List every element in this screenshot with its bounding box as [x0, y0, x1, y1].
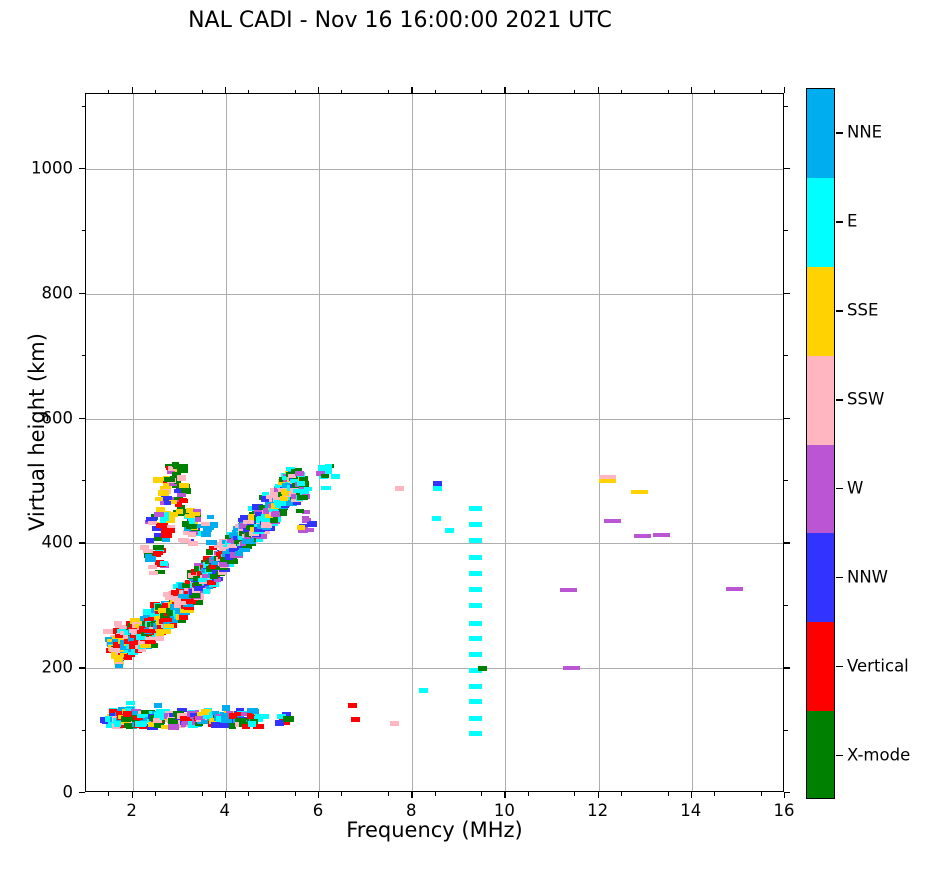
data-mark — [631, 490, 648, 494]
y-tick-minor-right — [784, 605, 788, 606]
data-mark — [188, 518, 195, 524]
colorbar-label-wrap: Azimuth Direction — [780, 290, 951, 590]
y-axis-label: Virtual height (km) — [25, 302, 49, 562]
x-tick-top — [411, 87, 412, 93]
data-mark — [351, 717, 360, 722]
x-tick-minor — [388, 792, 389, 796]
data-mark — [295, 471, 304, 476]
data-mark — [395, 486, 404, 491]
colorbar-segment-vertical[interactable] — [807, 622, 834, 711]
x-tick-minor-top — [481, 90, 482, 94]
x-tick — [225, 792, 226, 798]
data-mark — [203, 589, 210, 594]
y-tick — [79, 293, 85, 294]
data-mark — [185, 514, 195, 518]
data-mark — [164, 624, 174, 628]
gridline-horizontal — [86, 294, 783, 295]
data-mark — [255, 714, 263, 718]
data-mark — [469, 699, 482, 704]
gridline-vertical — [226, 94, 227, 791]
data-mark — [140, 644, 151, 648]
x-tick-top — [504, 87, 505, 93]
gridline-vertical — [505, 94, 506, 791]
data-mark — [469, 716, 482, 721]
data-mark — [469, 636, 482, 641]
data-mark — [164, 501, 171, 505]
data-mark — [160, 517, 169, 521]
y-tick-minor — [82, 106, 86, 107]
x-tick — [318, 792, 319, 798]
y-tick-right — [784, 792, 790, 793]
x-tick-minor — [108, 792, 109, 796]
x-axis-label: Frequency (MHz) — [85, 818, 784, 842]
data-mark — [188, 541, 198, 546]
data-mark — [207, 515, 214, 519]
x-tick — [132, 792, 133, 798]
data-mark — [158, 490, 169, 496]
data-mark — [321, 474, 329, 478]
data-mark — [221, 713, 228, 719]
data-mark — [172, 462, 179, 467]
data-mark — [469, 538, 482, 543]
data-mark — [174, 489, 181, 493]
x-tick-minor — [761, 792, 762, 796]
data-mark — [210, 522, 218, 528]
data-mark — [469, 571, 482, 576]
data-mark — [469, 731, 482, 736]
data-mark — [469, 652, 482, 657]
x-tick — [598, 792, 599, 798]
data-mark — [182, 521, 189, 527]
x-tick-top — [598, 87, 599, 93]
data-mark — [297, 481, 305, 486]
y-tick-minor-right — [784, 106, 788, 107]
colorbar-segment-e[interactable] — [807, 178, 834, 267]
data-mark — [599, 475, 616, 479]
data-mark — [144, 629, 155, 633]
data-mark — [726, 587, 743, 591]
y-tick-right — [784, 667, 790, 668]
gridline-vertical — [319, 94, 320, 791]
data-mark — [145, 554, 152, 560]
x-tick-minor — [155, 792, 156, 796]
y-tick-minor-right — [784, 230, 788, 231]
data-mark — [155, 497, 163, 501]
x-tick-minor — [248, 792, 249, 796]
data-mark — [599, 479, 616, 483]
data-mark — [156, 524, 167, 528]
data-mark — [469, 555, 482, 560]
x-tick-minor-top — [388, 90, 389, 94]
data-mark — [297, 525, 305, 530]
gridline-horizontal — [86, 169, 783, 170]
x-tick-minor — [621, 792, 622, 796]
x-tick-minor-top — [202, 90, 203, 94]
gridline-vertical — [692, 94, 693, 791]
data-mark — [206, 540, 217, 545]
ionogram-figure: NAL CADI - Nov 16 16:00:00 2021 UTC 2468… — [0, 0, 951, 856]
data-mark — [179, 483, 189, 488]
colorbar-label-x-mode: X-mode — [847, 745, 910, 764]
data-mark — [604, 519, 621, 523]
x-tick-top — [132, 87, 133, 93]
data-mark — [653, 533, 670, 537]
y-tick-label: 200 — [9, 658, 73, 677]
data-mark — [478, 666, 487, 671]
data-mark — [201, 522, 210, 526]
plot-area[interactable] — [85, 93, 784, 792]
x-tick-minor — [435, 792, 436, 796]
data-mark — [469, 522, 482, 527]
data-mark — [318, 465, 329, 471]
data-mark — [634, 534, 651, 538]
colorbar-tick — [836, 221, 843, 223]
data-mark — [297, 495, 308, 500]
data-mark — [154, 703, 162, 708]
data-mark — [227, 559, 238, 564]
y-tick — [79, 792, 85, 793]
data-mark — [156, 630, 164, 636]
x-tick — [691, 792, 692, 798]
x-tick-minor — [574, 792, 575, 796]
data-mark — [560, 588, 577, 592]
x-tick-minor — [341, 792, 342, 796]
y-tick-minor — [82, 480, 86, 481]
data-mark — [243, 520, 254, 524]
data-mark — [206, 549, 213, 555]
gridline-horizontal — [86, 419, 783, 420]
x-tick-minor-top — [341, 90, 342, 94]
data-mark — [177, 475, 186, 481]
x-tick-minor — [481, 792, 482, 796]
x-tick-minor — [295, 792, 296, 796]
data-mark — [419, 688, 428, 693]
data-mark — [469, 603, 482, 608]
x-tick-minor — [528, 792, 529, 796]
data-mark — [153, 545, 164, 550]
y-tick-label: 1000 — [9, 158, 73, 177]
data-mark — [168, 724, 179, 730]
data-mark — [149, 571, 158, 575]
gridline-horizontal — [86, 668, 783, 669]
data-mark — [201, 532, 209, 536]
data-mark — [140, 545, 149, 550]
data-mark — [432, 516, 441, 521]
data-mark — [148, 565, 157, 569]
data-mark — [280, 510, 287, 516]
data-mark — [272, 511, 279, 515]
data-mark — [235, 718, 246, 722]
data-mark — [194, 586, 203, 591]
x-tick-minor-top — [621, 90, 622, 94]
data-mark — [469, 506, 482, 511]
x-tick-top — [225, 87, 226, 93]
data-mark — [331, 474, 340, 479]
data-mark — [153, 551, 163, 555]
data-mark — [563, 666, 580, 670]
data-mark — [469, 587, 482, 592]
x-tick-minor-top — [295, 90, 296, 94]
data-mark — [177, 493, 186, 497]
data-mark — [293, 489, 302, 493]
data-mark — [126, 701, 135, 705]
data-mark — [162, 538, 170, 542]
x-tick-minor-top — [761, 90, 762, 94]
x-tick-minor — [202, 792, 203, 796]
x-tick-minor-top — [248, 90, 249, 94]
colorbar-label-nne: NNE — [847, 123, 882, 142]
data-mark — [248, 721, 256, 727]
y-tick-minor — [82, 730, 86, 731]
data-mark — [296, 509, 304, 513]
data-mark — [261, 518, 270, 522]
x-tick-minor-top — [574, 90, 575, 94]
colorbar-label-e: E — [847, 212, 857, 231]
x-tick-minor-top — [108, 90, 109, 94]
gridline-vertical — [412, 94, 413, 791]
data-mark — [283, 716, 294, 722]
y-tick — [79, 418, 85, 419]
y-tick-label: 800 — [9, 283, 73, 302]
data-mark — [136, 722, 147, 726]
y-tick-right — [784, 168, 790, 169]
data-mark — [469, 621, 482, 626]
x-tick-minor — [668, 792, 669, 796]
y-tick-minor — [82, 230, 86, 231]
data-mark — [161, 618, 172, 622]
data-mark — [222, 705, 230, 711]
data-mark — [321, 486, 331, 490]
gridline-vertical — [133, 94, 134, 791]
data-mark — [192, 593, 200, 598]
x-tick — [504, 792, 505, 798]
data-mark — [469, 684, 482, 689]
x-tick-minor — [714, 792, 715, 796]
x-tick — [411, 792, 412, 798]
data-mark — [247, 708, 258, 713]
x-tick-minor-top — [714, 90, 715, 94]
colorbar-label-vertical: Vertical — [847, 656, 909, 675]
page-title: NAL CADI - Nov 16 16:00:00 2021 UTC — [0, 8, 800, 33]
data-mark — [166, 528, 175, 533]
colorbar-segment-nne[interactable] — [807, 89, 834, 178]
y-tick-minor — [82, 605, 86, 606]
data-mark — [164, 477, 175, 482]
y-tick-label: 0 — [9, 783, 73, 802]
data-mark — [348, 703, 357, 708]
x-tick-minor-top — [435, 90, 436, 94]
data-mark — [445, 528, 454, 533]
x-tick-minor-top — [155, 90, 156, 94]
x-tick-top — [784, 87, 785, 93]
data-mark — [115, 664, 123, 668]
y-tick-minor — [82, 355, 86, 356]
data-mark — [302, 516, 309, 522]
x-tick-top — [691, 87, 692, 93]
data-mark — [116, 655, 123, 659]
gridline-vertical — [599, 94, 600, 791]
data-mark — [304, 487, 312, 491]
data-mark — [179, 498, 187, 503]
data-mark — [160, 561, 168, 566]
x-tick-minor-top — [528, 90, 529, 94]
data-mark — [239, 548, 250, 552]
x-tick-top — [318, 87, 319, 93]
y-tick — [79, 667, 85, 668]
colorbar-segment-x-mode[interactable] — [807, 711, 834, 799]
x-tick-minor-top — [668, 90, 669, 94]
data-mark — [390, 721, 399, 726]
y-tick-minor-right — [784, 730, 788, 731]
colorbar-tick — [836, 755, 843, 757]
data-mark — [103, 629, 114, 634]
colorbar-tick — [836, 132, 843, 134]
data-mark — [188, 532, 196, 537]
colorbar-tick — [836, 666, 843, 668]
y-tick — [79, 542, 85, 543]
y-tick — [79, 168, 85, 169]
data-mark — [433, 486, 442, 491]
